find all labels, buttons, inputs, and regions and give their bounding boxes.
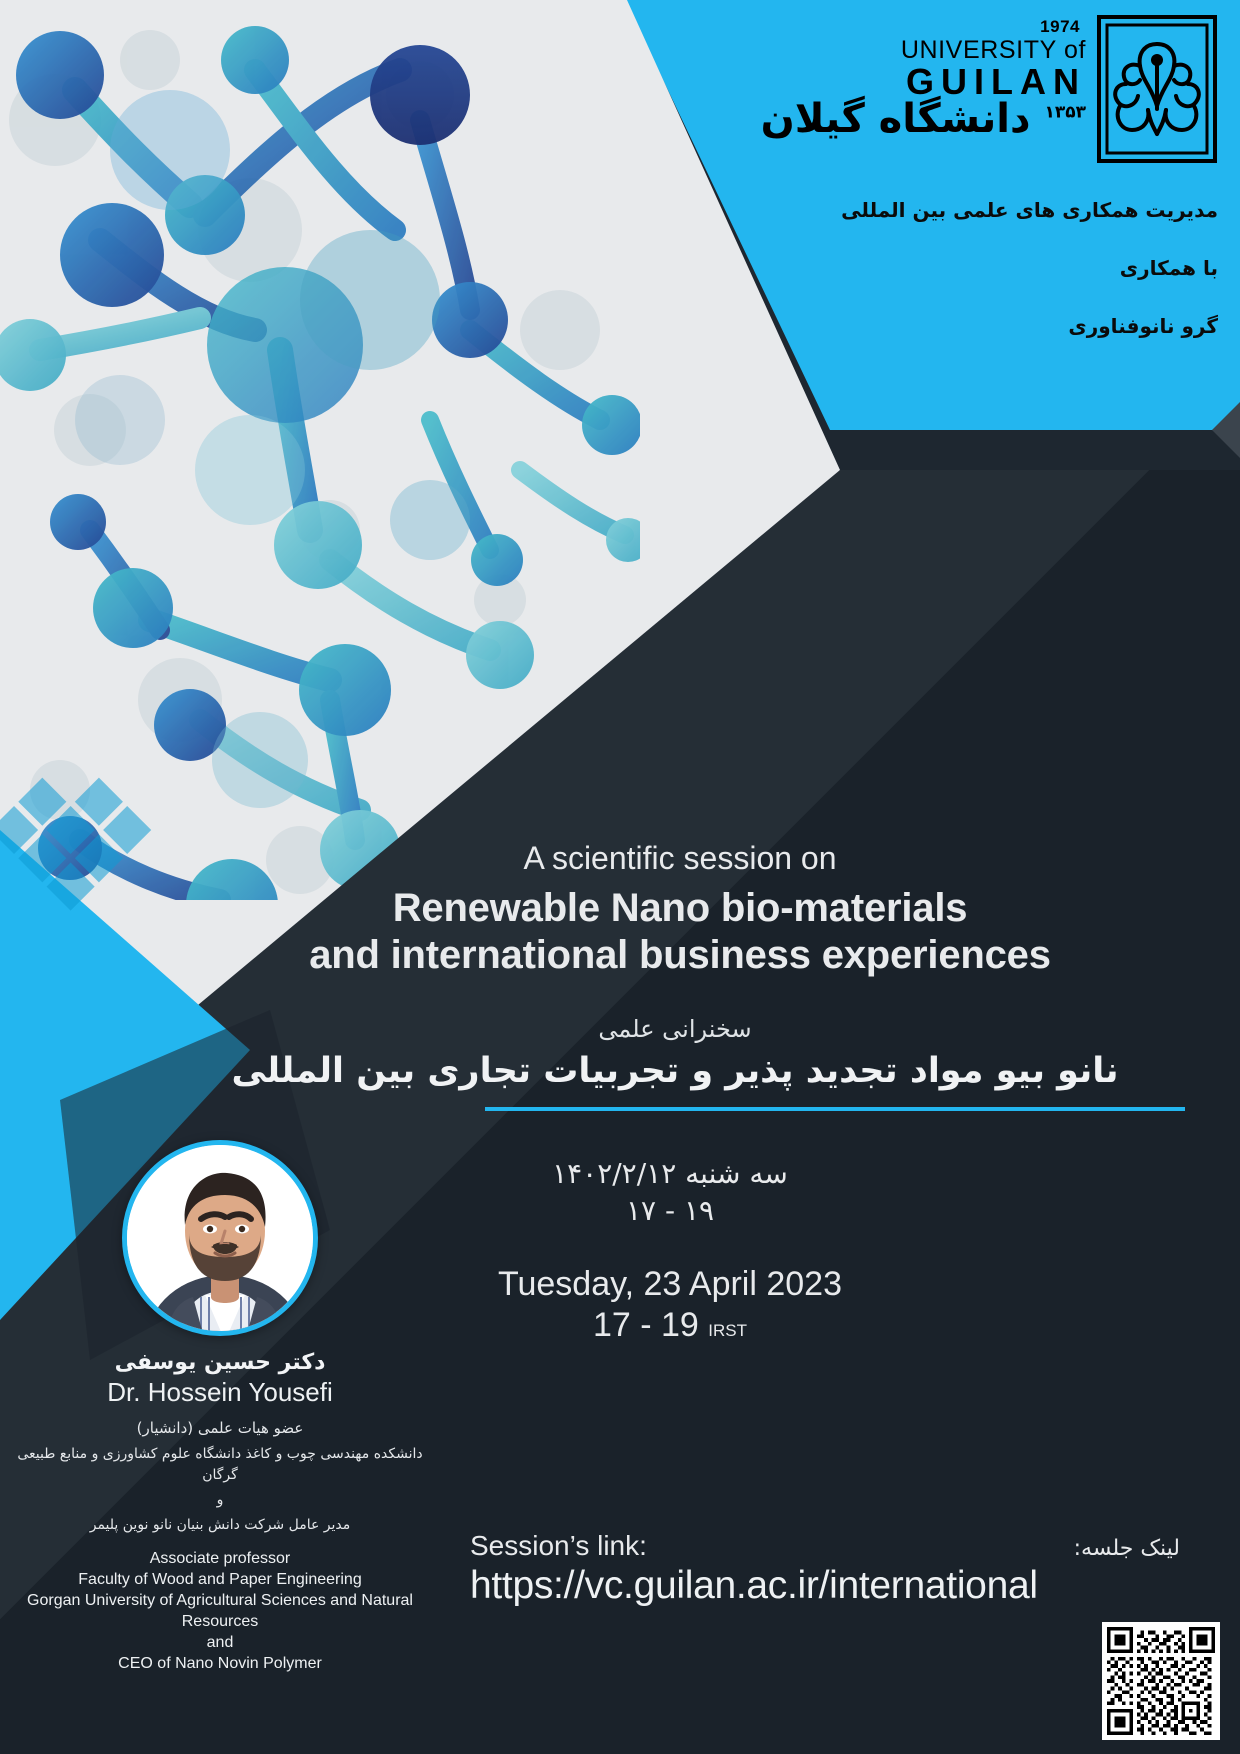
session-title-en-line2: and international business experiences	[120, 932, 1240, 979]
speaker-name-fa: دکتر حسین یوسفی	[0, 1350, 440, 1375]
speaker-conjunction-en: and	[0, 1632, 440, 1653]
logo-year-fa: ۱۳۵۳	[1044, 102, 1086, 122]
session-timezone: IRST	[708, 1321, 747, 1340]
session-title-en: Renewable Nano bio-materials and interna…	[0, 885, 1240, 979]
speaker-affiliation-fa: دانشکده مهندسی چوب و کاغذ دانشگاه علوم ک…	[0, 1444, 440, 1486]
university-header: 1974 UNIVERSITY of GUILAN ۱۳۵۳ دانشگاه گ…	[720, 0, 1240, 338]
logo-university-fa: دانشگاه گیلان	[761, 96, 1031, 142]
speaker-conjunction-fa: و	[0, 1490, 440, 1511]
department-line-1: مدیریت همکاری های علمی بین المللی	[720, 198, 1218, 222]
session-link-label-fa: لینک جلسه:	[1074, 1536, 1180, 1561]
logo-wordmark: 1974 UNIVERSITY of GUILAN ۱۳۵۳ دانشگاه گ…	[761, 14, 1086, 139]
poster-canvas: 1974 UNIVERSITY of GUILAN ۱۳۵۳ دانشگاه گ…	[0, 0, 1240, 1754]
university-logo: 1974 UNIVERSITY of GUILAN ۱۳۵۳ دانشگاه گ…	[720, 14, 1218, 164]
speaker-role2-fa: مدیر عامل شرکت دانش بنیان نانو نوین پلیم…	[0, 1515, 440, 1536]
session-title-fa: نانو بیو مواد تجدید پذیر و تجربیات تجاری…	[0, 1049, 1240, 1095]
speaker-university-en: Gorgan University of Agricultural Scienc…	[0, 1590, 440, 1632]
logo-university-line: UNIVERSITY of	[761, 37, 1086, 63]
speaker-faculty-en: Faculty of Wood and Paper Engineering	[0, 1569, 440, 1590]
speaker-role-fa: عضو هیات علمی (دانشیار)	[0, 1417, 440, 1440]
session-link-qr-code[interactable]	[1102, 1622, 1220, 1740]
session-time-en-value: 17 - 19	[593, 1306, 699, 1344]
speaker-name-en: Dr. Hossein Yousefi	[0, 1377, 440, 1408]
accent-divider	[485, 1107, 1185, 1111]
qr-code-icon	[1107, 1627, 1215, 1735]
logo-name-fa: ۱۳۵۳ دانشگاه گیلان	[761, 99, 1086, 139]
guilan-university-emblem-icon	[1096, 14, 1218, 164]
speaker-card: دکتر حسین یوسفی Dr. Hossein Yousefi عضو …	[0, 1140, 440, 1674]
speaker-avatar	[122, 1140, 318, 1336]
speaker-role2-en: CEO of Nano Novin Polymer	[0, 1653, 440, 1674]
speaker-portrait-illustration	[127, 1145, 318, 1336]
department-line-2: با همکاری	[720, 256, 1218, 280]
department-lines: مدیریت همکاری های علمی بین المللی با همک…	[720, 198, 1218, 338]
logo-year-en: 1974	[761, 18, 1086, 37]
session-eyebrow-en: A scientific session on	[0, 840, 1240, 877]
session-title-en-line1: Renewable Nano bio-materials	[120, 885, 1240, 932]
session-eyebrow-fa: سخنرانی علمی	[0, 1015, 1240, 1043]
speaker-credentials-en: Associate professor Faculty of Wood and …	[0, 1548, 440, 1675]
speaker-role-en: Associate professor	[0, 1548, 440, 1569]
session-link-label-en: Session’s link:	[470, 1530, 647, 1562]
department-line-3: گرو نانوفناوری	[720, 314, 1218, 338]
